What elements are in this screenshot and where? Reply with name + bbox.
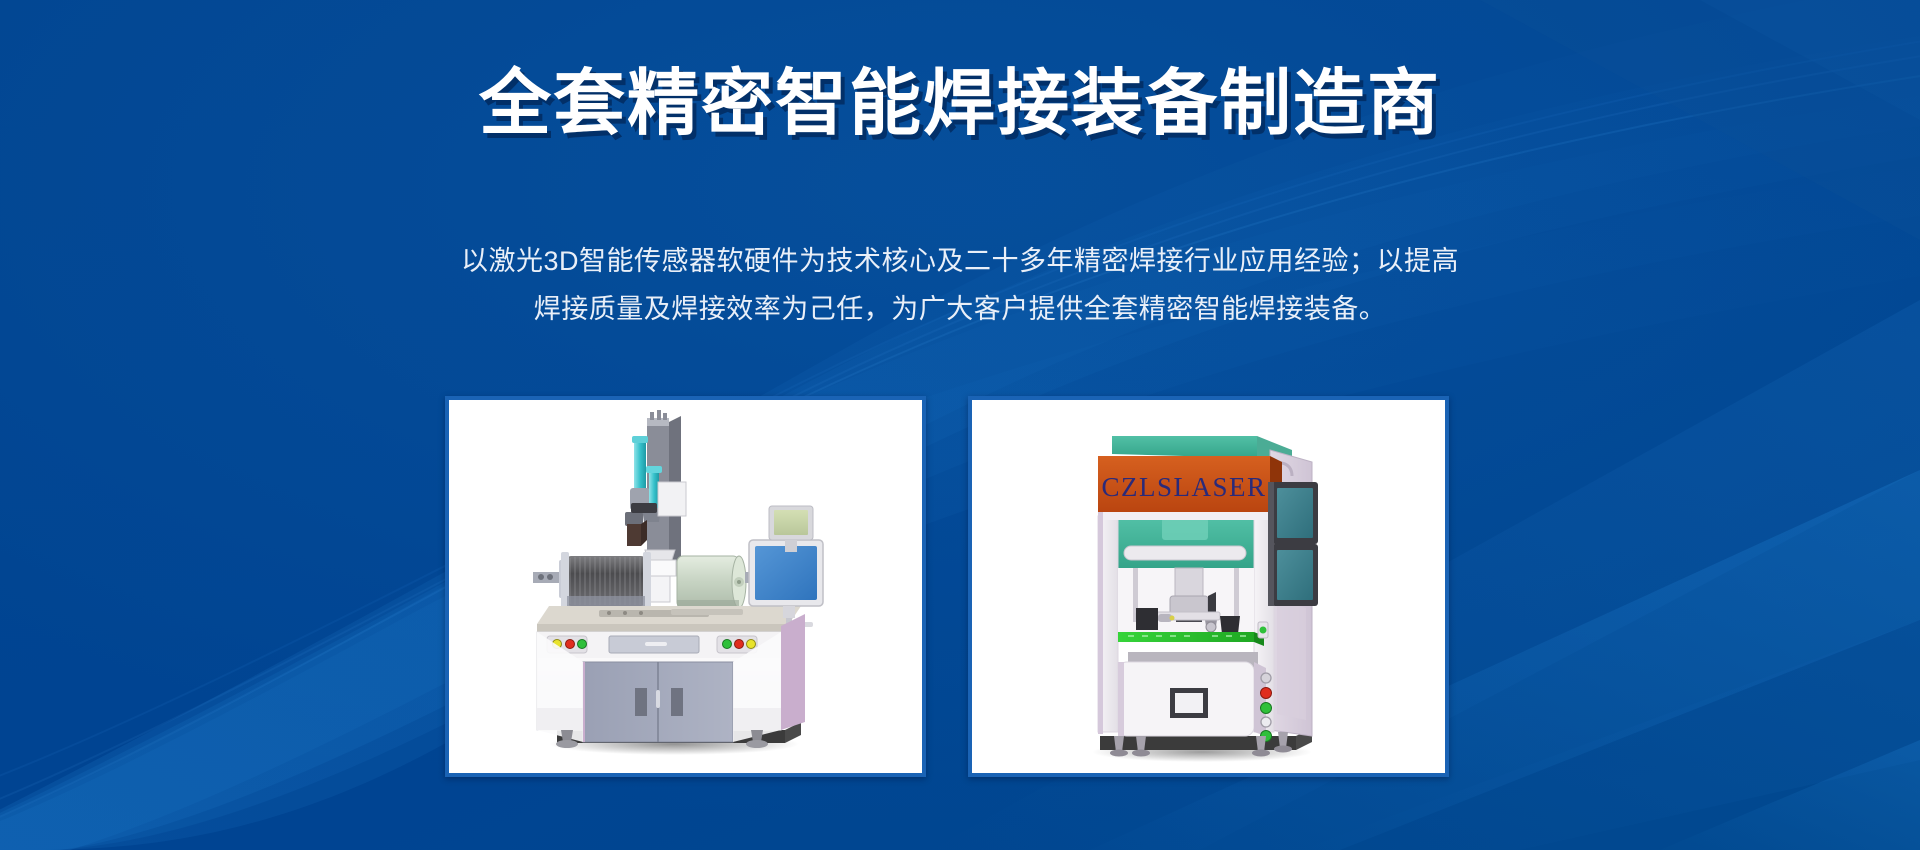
product-card-cabinet-laser-welding-machine[interactable]: CZLSLASER [968, 396, 1449, 777]
product-gallery: CZLSLASER [445, 396, 1449, 777]
hero-subtitle-line-2: 焊接质量及焊接效率为己任，为广大客户提供全套精密智能焊接装备。 [400, 285, 1520, 333]
hero-subtitle: 以激光3D智能传感器软硬件为技术核心及二十多年精密焊接行业应用经验；以提高 焊接… [400, 237, 1520, 333]
hero-subtitle-line-1: 以激光3D智能传感器软硬件为技术核心及二十多年精密焊接行业应用经验；以提高 [400, 237, 1520, 285]
product-image-1 [449, 400, 922, 773]
product-image-2: CZLSLASER [972, 400, 1445, 773]
product-card-precision-laser-welding-workstation[interactable] [445, 396, 926, 777]
cabinet-welding-machine-illustration: CZLSLASER [972, 400, 1445, 773]
page-title: 全套精密智能焊接装备制造商 [0, 68, 1920, 140]
brand-label: CZLSLASER [1101, 472, 1266, 502]
welding-workstation-illustration [449, 400, 922, 773]
